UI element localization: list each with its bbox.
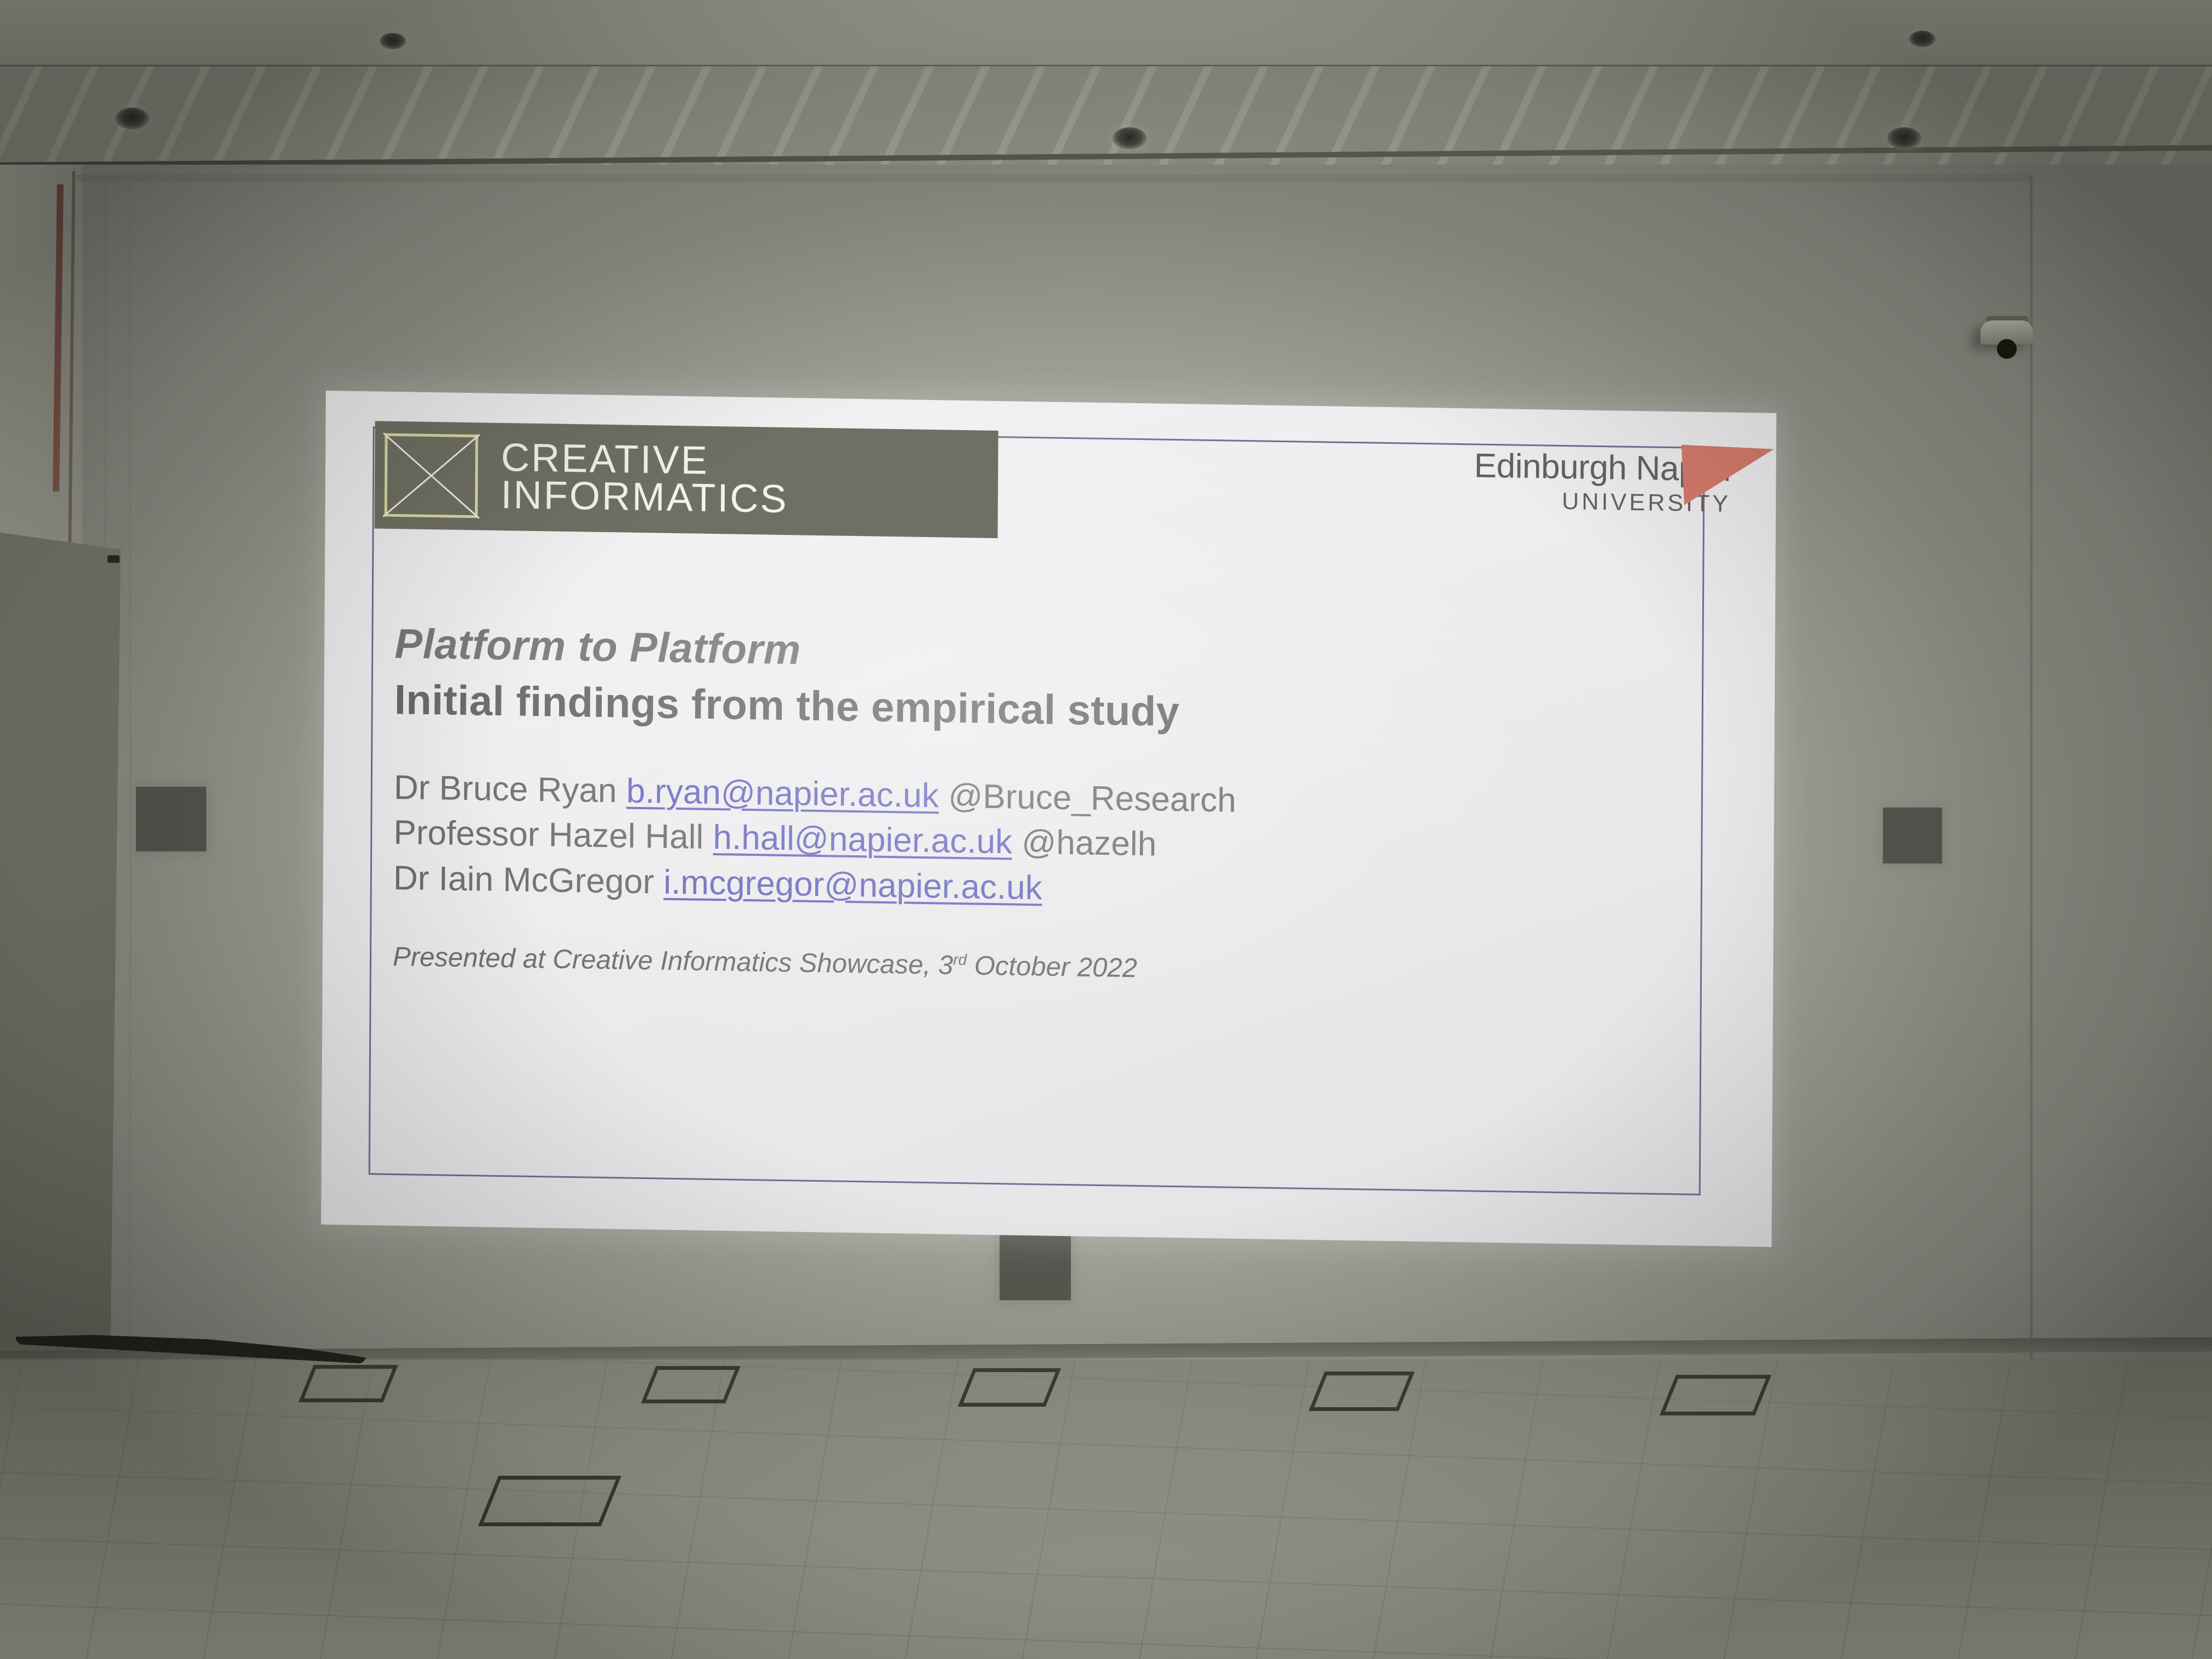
x-box-icon [385, 433, 478, 518]
author-email-link[interactable]: i.mcgregor@napier.ac.uk [663, 864, 1042, 907]
author-email-link[interactable]: b.ryan@napier.ac.uk [626, 772, 939, 815]
wall-plate-right [1883, 808, 1942, 864]
floor-box [641, 1366, 740, 1403]
wall-panel-joint [129, 181, 132, 1344]
recessed-spotlight-icon [115, 108, 149, 129]
author-name: Dr Bruce Ryan [394, 769, 617, 810]
footnote-suffix: October 2022 [967, 951, 1137, 983]
cctv-camera-icon [1976, 316, 2038, 366]
cctv-lens-icon [1997, 339, 2017, 359]
floor-box [958, 1368, 1061, 1407]
footnote-ordinal: rd [953, 951, 967, 968]
recessed-spotlight-icon [1887, 127, 1921, 149]
author-name: Professor Hazel Hall [393, 814, 703, 856]
slide-body: Platform to Platform Initial findings fr… [393, 621, 1679, 992]
ceiling-soffit [0, 0, 2212, 66]
floor-box [1308, 1372, 1414, 1411]
floor-box [298, 1365, 398, 1402]
wall-plate-centre [1000, 1230, 1071, 1300]
recessed-spotlight-icon [380, 33, 406, 49]
slide-title-line-2: Initial findings from the empirical stud… [394, 676, 1678, 744]
partition-knob-icon [108, 555, 120, 563]
author-name: Dr Iain McGregor [393, 859, 654, 901]
recessed-spotlight-icon [1113, 127, 1147, 149]
left-partition-panel [0, 531, 121, 1365]
floor-box [478, 1476, 621, 1526]
creative-informatics-wordmark: CREATIVE INFORMATICS [501, 439, 788, 518]
room-photo-scene: CREATIVE INFORMATICS Edinburgh Napier UN… [0, 0, 2212, 1659]
floor-tile-grid [0, 1359, 2212, 1659]
edinburgh-napier-logo: Edinburgh Napier UNIVERSITY [1474, 448, 1734, 517]
floor-box [1660, 1375, 1771, 1415]
author-list: Dr Bruce Ryan b.ryan@napier.ac.uk @Bruce… [393, 766, 1678, 921]
ci-wordmark-line-2: INFORMATICS [501, 477, 788, 518]
recessed-spotlight-icon [1909, 31, 1936, 47]
author-email-link[interactable]: h.hall@napier.ac.uk [713, 819, 1012, 861]
creative-informatics-logo: CREATIVE INFORMATICS [375, 421, 998, 538]
wall-upper-band [77, 174, 2030, 182]
wall-plate-left [136, 787, 206, 851]
triangle-icon [1681, 442, 1776, 505]
projection-screen: CREATIVE INFORMATICS Edinburgh Napier UN… [321, 391, 1776, 1247]
author-social-handle: @Bruce_Research [948, 777, 1236, 819]
author-social-handle: @hazelh [1022, 823, 1156, 864]
